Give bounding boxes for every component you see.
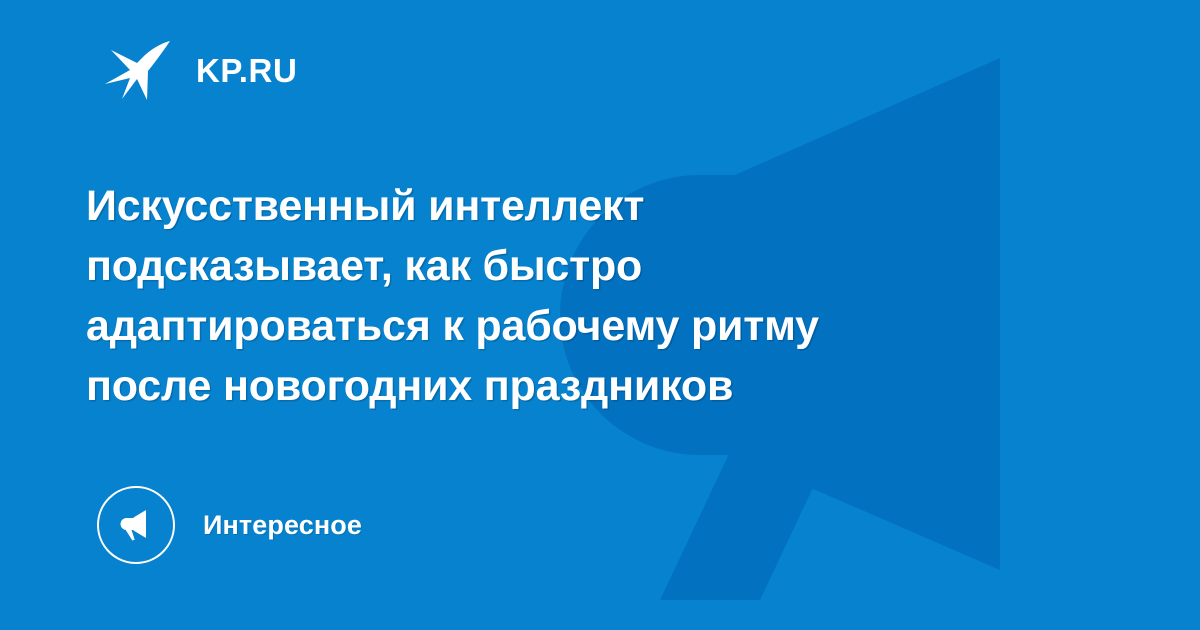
share-card: KP.RU Искусственный интеллект подсказыва…: [0, 0, 1200, 630]
headline-line-1: Искусственный интеллект: [86, 176, 986, 236]
headline-line-4: после новогодних праздников: [86, 356, 986, 416]
brand-header[interactable]: KP.RU: [104, 34, 297, 106]
headline-line-2: подсказывает, как быстро: [86, 236, 986, 296]
page-title: Искусственный интеллект подсказывает, ка…: [86, 176, 986, 416]
kp-swallow-logo-icon: [104, 39, 172, 101]
megaphone-icon: [116, 505, 156, 545]
brand-name: KP.RU: [196, 54, 297, 87]
headline-line-3: адаптироваться к рабочему ритму: [86, 296, 986, 356]
badge-label: Интересное: [203, 510, 362, 541]
category-badge[interactable]: Интересное: [97, 484, 362, 566]
badge-icon-circle: [97, 486, 175, 564]
